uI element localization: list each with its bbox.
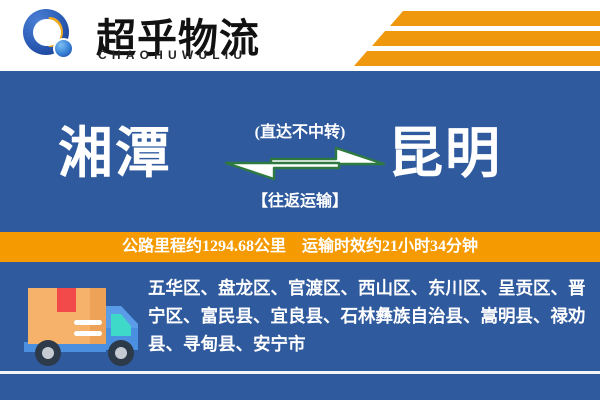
- info-bar: 公路里程约1294.68公里 运输时效约21小时34分钟: [0, 232, 600, 262]
- logo-dot-shape: [53, 38, 74, 59]
- origin-city-label: 湘潭: [58, 126, 172, 181]
- header-bar: 超乎物流 CHAOHUWULIU: [0, 0, 600, 71]
- header-stripe-2: [372, 31, 600, 46]
- header-stripe-1: [390, 11, 600, 26]
- delivery-truck-icon: [16, 276, 148, 372]
- logistics-route-banner: 超乎物流 CHAOHUWULIU (直达不中转) 湘潭 昆明 【往返运输】 公路…: [0, 0, 600, 400]
- roundtrip-shipping-note: 【往返运输】: [0, 187, 600, 211]
- brand-name-en: CHAOHUWULIU: [98, 48, 247, 62]
- destination-city-label: 昆明: [388, 126, 502, 181]
- header-stripe-3: [354, 51, 600, 66]
- q-circle-logo-icon: [23, 9, 81, 65]
- road-line: [0, 371, 600, 374]
- covered-districts-text: 五华区、盘龙区、官渡区、西山区、东川区、呈贡区、晋宁区、富民县、宜良县、石林彝族…: [148, 274, 592, 358]
- distance-and-duration-text: 公路里程约1294.68公里 运输时效约21小时34分钟: [0, 232, 600, 262]
- bidirectional-arrow-icon: [224, 146, 386, 184]
